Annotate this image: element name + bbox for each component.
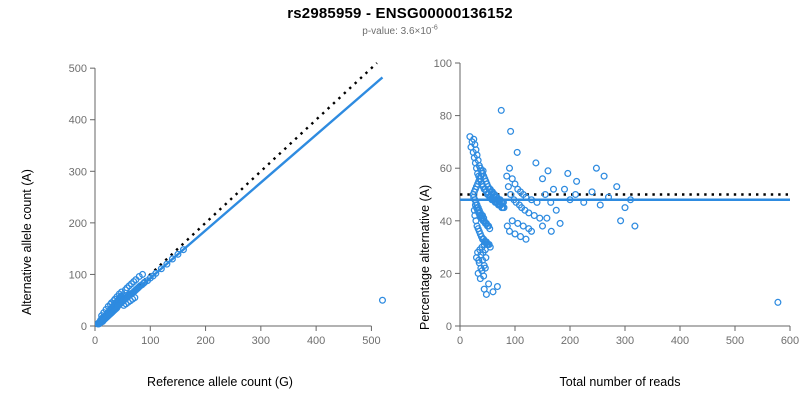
data-point [537, 215, 543, 221]
y-tick-label: 0 [81, 321, 87, 333]
data-point [490, 289, 496, 295]
y-tick-label: 200 [69, 218, 87, 230]
y-tick-label: 100 [434, 58, 452, 70]
y-tick-label: 80 [440, 111, 452, 123]
plot-area [95, 63, 386, 327]
data-point [614, 184, 620, 190]
panel-left: 01002003004005000100200300400500 Referen… [0, 45, 400, 400]
x-tick-label: 200 [561, 335, 579, 347]
data-point [507, 165, 513, 171]
x-tick-label: 500 [726, 335, 744, 347]
x-tick-label: 200 [196, 335, 214, 347]
data-point [506, 184, 512, 190]
data-point [601, 173, 607, 179]
data-point [545, 168, 551, 174]
x-tick-label: 100 [506, 335, 524, 347]
x-tick-label: 500 [362, 335, 380, 347]
data-point [594, 165, 600, 171]
data-point [565, 171, 571, 177]
y-tick-label: 100 [69, 269, 87, 281]
data-point [557, 221, 563, 227]
y-tick-label: 20 [440, 268, 452, 280]
right-x-axis-title: Total number of reads [450, 375, 790, 389]
data-point [540, 176, 546, 182]
y-tick-label: 40 [440, 216, 452, 228]
data-point [562, 186, 568, 192]
data-point [548, 228, 554, 234]
data-point [632, 223, 638, 229]
data-point [514, 150, 520, 156]
y-tick-label: 60 [440, 163, 452, 175]
y-tick-label: 0 [446, 321, 452, 333]
fitted-line [95, 77, 382, 326]
x-tick-label: 100 [141, 335, 159, 347]
x-tick-label: 400 [671, 335, 689, 347]
data-point [553, 207, 559, 213]
x-tick-label: 300 [616, 335, 634, 347]
figure-container: rs2985959 - ENSG00000136152 p-value: 3.6… [0, 0, 800, 400]
data-point [622, 205, 628, 211]
data-point [498, 107, 504, 113]
x-tick-label: 400 [307, 335, 325, 347]
data-point [486, 281, 492, 287]
data-point [551, 186, 557, 192]
left-x-axis-title: Reference allele count (G) [60, 375, 380, 389]
figure-subtitle: p-value: 3.6×10-6 [0, 26, 800, 37]
data-point [508, 128, 514, 134]
data-point [380, 297, 386, 303]
left-scatter-plot: 01002003004005000100200300400500 [0, 45, 400, 355]
data-point [775, 299, 781, 305]
data-point [589, 189, 595, 195]
figure-title: rs2985959 - ENSG00000136152 [0, 5, 800, 22]
data-point [540, 223, 546, 229]
data-point [495, 284, 501, 290]
data-point [523, 236, 529, 242]
right-scatter-plot: 0204060801000100200300400500600 [400, 45, 800, 355]
subtitle-exponent: -6 [431, 25, 437, 32]
subtitle-text: p-value: 3.6×10 [362, 26, 431, 37]
x-tick-label: 0 [457, 335, 463, 347]
y-tick-label: 400 [69, 115, 87, 127]
data-point [573, 192, 579, 198]
y-tick-label: 300 [69, 166, 87, 178]
x-tick-label: 0 [92, 335, 98, 347]
panel-right: 0204060801000100200300400500600 Total nu… [400, 45, 800, 400]
data-point [484, 292, 490, 298]
data-point [544, 215, 550, 221]
data-point [574, 178, 580, 184]
data-point [597, 202, 603, 208]
x-tick-label: 600 [781, 335, 799, 347]
right-y-axis-title: Percentage alternative (A) [418, 185, 432, 330]
plot-area [460, 107, 790, 305]
left-y-axis-title: Alternative allele count (A) [20, 169, 34, 315]
data-point [618, 218, 624, 224]
data-point [533, 160, 539, 166]
x-tick-label: 300 [252, 335, 270, 347]
y-tick-label: 500 [69, 63, 87, 75]
